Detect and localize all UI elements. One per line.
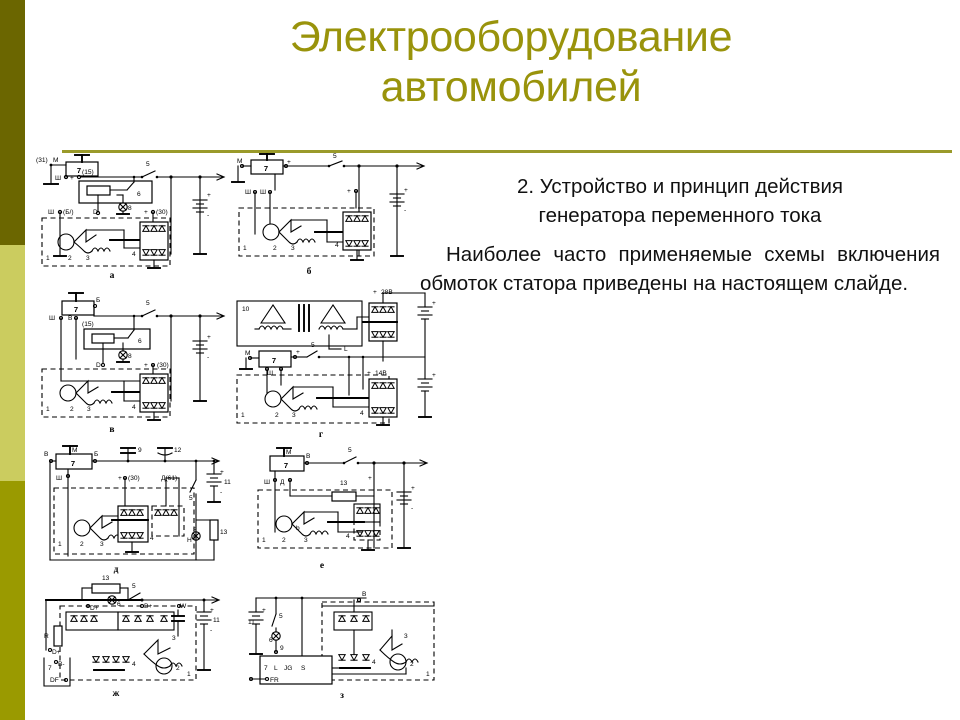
svg-text:L: L — [274, 665, 278, 672]
svg-text:М: М — [237, 158, 243, 165]
svg-text:(30): (30) — [156, 209, 168, 216]
svg-text:7: 7 — [272, 356, 276, 365]
svg-text:Д: Д — [280, 479, 285, 486]
svg-text:-: - — [210, 627, 212, 634]
svg-text:+: + — [70, 175, 74, 182]
svg-text:+: + — [432, 372, 436, 379]
svg-text:+: + — [220, 469, 224, 476]
svg-text:L: L — [344, 346, 348, 353]
slide-canvas: Электрооборудование автомобилей 2. Устро… — [0, 0, 960, 720]
svg-text:3: 3 — [87, 406, 91, 413]
svg-text:Н: Н — [187, 537, 192, 544]
svg-text:JG: JG — [284, 665, 292, 672]
sidebar-band-dark-olive — [0, 0, 25, 245]
svg-text:B-: B- — [58, 661, 65, 668]
svg-text:13: 13 — [220, 529, 228, 536]
svg-text:11: 11 — [213, 617, 220, 624]
decorative-sidebar — [0, 0, 25, 720]
slide-title-line-2: автомобилей — [62, 62, 960, 112]
svg-text:Б: Б — [96, 297, 100, 304]
svg-text:М: М — [286, 449, 292, 456]
svg-text:+: + — [404, 187, 408, 194]
svg-text:+: + — [296, 349, 300, 356]
svg-text:-: - — [220, 489, 222, 496]
svg-text:(15): (15) — [82, 169, 94, 176]
svg-text:4: 4 — [335, 242, 339, 249]
svg-text:3: 3 — [100, 541, 104, 548]
svg-text:3: 3 — [172, 635, 176, 642]
svg-text:2: 2 — [282, 537, 286, 544]
svg-text:7: 7 — [264, 665, 268, 672]
svg-text:FR: FR — [270, 677, 279, 684]
diagram-e: 7 М В 5 + - — [258, 447, 427, 571]
svg-text:B: B — [362, 591, 367, 598]
diagram-zh: 13 6 5 B+ W — [44, 575, 220, 699]
svg-text:(30): (30) — [157, 362, 169, 369]
svg-text:+: + — [207, 192, 211, 199]
svg-text:+: + — [262, 607, 266, 614]
svg-text:4: 4 — [132, 404, 136, 411]
svg-text:5: 5 — [132, 583, 136, 590]
svg-text:5: 5 — [189, 495, 193, 502]
svg-text:4: 4 — [346, 533, 350, 540]
svg-text:+: + — [210, 607, 214, 614]
svg-text:В: В — [306, 453, 311, 460]
diagram-g: 10 — [237, 289, 436, 440]
svg-text:М: М — [53, 157, 59, 164]
svg-text:10: 10 — [242, 306, 250, 313]
diagram-caption-g: г — [319, 430, 324, 440]
svg-text:М: М — [72, 447, 78, 454]
svg-text:Ш: Ш — [55, 175, 61, 182]
svg-text:1: 1 — [426, 671, 430, 678]
svg-text:5: 5 — [333, 153, 337, 160]
svg-text:2: 2 — [80, 541, 84, 548]
svg-text:Ш: Ш — [49, 315, 55, 322]
content-heading-line-1: 2. Устройство и принцип действия — [420, 172, 940, 201]
content-heading-line-2: генератора переменного тока — [420, 201, 940, 230]
svg-text:S: S — [301, 665, 306, 672]
svg-text:12: 12 — [174, 447, 182, 454]
content-text-block: 2. Устройство и принцип действия генерат… — [420, 172, 940, 298]
svg-text:8: 8 — [128, 205, 132, 212]
svg-text:(15): (15) — [82, 321, 94, 328]
svg-text:+: + — [368, 475, 372, 482]
svg-text:3: 3 — [291, 245, 295, 252]
slide-title-line-1: Электрооборудование — [62, 12, 960, 62]
svg-text:9: 9 — [280, 645, 284, 652]
svg-text:2: 2 — [176, 665, 180, 672]
svg-text:1: 1 — [187, 671, 191, 678]
svg-text:Ш: Ш — [56, 475, 62, 482]
slide-title: Электрооборудование автомобилей — [62, 12, 960, 112]
svg-text:4: 4 — [132, 251, 136, 258]
diagram-v: 7 Б Ш В (15) 5 — [42, 293, 224, 435]
sidebar-band-olive-gold — [0, 481, 25, 720]
svg-text:+: + — [367, 370, 371, 377]
svg-text:1: 1 — [243, 245, 247, 252]
svg-text:13: 13 — [340, 480, 348, 487]
svg-text:Ш: Ш — [48, 209, 54, 216]
svg-text:3: 3 — [292, 412, 296, 419]
svg-text:4: 4 — [372, 659, 376, 666]
diagram-caption-v: в — [109, 425, 114, 435]
circuit-diagrams-figure: .w{stroke:#000;stroke-width:1.1;fill:non… — [24, 152, 444, 718]
svg-text:+: + — [373, 289, 377, 296]
svg-text:2: 2 — [410, 661, 414, 668]
diagram-caption-a: а — [110, 271, 115, 281]
svg-text:(31): (31) — [36, 157, 48, 164]
svg-text:6: 6 — [138, 338, 142, 345]
svg-text:7: 7 — [74, 305, 78, 314]
svg-text:-: - — [207, 354, 209, 361]
svg-text:D+: D+ — [90, 605, 99, 612]
svg-text:(Б/): (Б/) — [63, 209, 74, 216]
svg-text:Ш: Ш — [267, 370, 273, 377]
svg-text:+: + — [411, 485, 415, 492]
svg-text:6: 6 — [269, 637, 273, 644]
svg-text:М: М — [245, 350, 251, 357]
svg-text:D: D — [96, 362, 101, 369]
svg-text:7: 7 — [77, 166, 81, 175]
svg-text:В: В — [44, 451, 49, 458]
svg-text:-: - — [207, 212, 209, 219]
diagram-caption-zh: ж — [113, 689, 120, 699]
svg-text:4: 4 — [360, 410, 364, 417]
svg-text:2: 2 — [275, 412, 279, 419]
svg-text:2: 2 — [273, 245, 277, 252]
svg-text:Ш: Ш — [264, 479, 270, 486]
svg-text:1: 1 — [46, 406, 50, 413]
svg-text:-: - — [411, 505, 413, 512]
svg-text:5: 5 — [146, 161, 150, 168]
svg-text:3: 3 — [304, 537, 308, 544]
diagram-z: + 11 5 6 9 B — [248, 591, 434, 701]
svg-text:2: 2 — [68, 255, 72, 262]
svg-text:5: 5 — [348, 447, 352, 454]
svg-text:3: 3 — [404, 633, 408, 640]
svg-text:7: 7 — [284, 461, 288, 470]
svg-text:-: - — [404, 207, 406, 214]
svg-text:Ш: Ш — [260, 189, 266, 196]
svg-text:DF: DF — [50, 677, 59, 684]
svg-text:В: В — [68, 315, 73, 322]
svg-text:11: 11 — [224, 479, 231, 486]
svg-text:7: 7 — [48, 665, 52, 672]
diagram-caption-z: з — [340, 691, 344, 701]
svg-text:Б: Б — [94, 451, 98, 458]
svg-text:1: 1 — [262, 537, 266, 544]
sidebar-band-light-yellow — [0, 245, 25, 481]
svg-text:9: 9 — [138, 447, 142, 454]
diagram-a: 7 (31) М Ш + (15) — [36, 155, 224, 281]
svg-text:6: 6 — [117, 601, 121, 608]
svg-text:8: 8 — [128, 353, 132, 360]
svg-text:14В: 14В — [375, 370, 387, 377]
svg-text:4: 4 — [132, 661, 136, 668]
svg-text:b: b — [296, 525, 300, 532]
svg-text:7: 7 — [71, 459, 75, 468]
svg-text:13: 13 — [102, 575, 110, 582]
svg-text:+: + — [347, 188, 351, 195]
diagram-caption-b: б — [307, 266, 312, 277]
diagram-caption-e: е — [320, 561, 324, 571]
svg-text:+: + — [118, 475, 122, 482]
svg-text:5: 5 — [279, 613, 283, 620]
svg-text:6: 6 — [137, 191, 141, 198]
content-paragraph: Наиболее часто применяемые схемы включен… — [420, 240, 940, 298]
svg-text:5: 5 — [146, 300, 150, 307]
svg-text:3: 3 — [86, 255, 90, 262]
svg-text:+: + — [432, 300, 436, 307]
svg-text:7: 7 — [264, 164, 268, 173]
svg-text:D+: D+ — [52, 649, 61, 656]
circuit-diagrams-svg: .w{stroke:#000;stroke-width:1.1;fill:non… — [24, 152, 444, 718]
svg-text:+: + — [144, 362, 148, 369]
diagram-b: 7 М + 5 — [232, 153, 424, 277]
svg-text:+: + — [144, 209, 148, 216]
diagram-d: 7 М В Б Ш — [44, 446, 231, 575]
svg-text:1: 1 — [241, 412, 245, 419]
svg-text:5: 5 — [311, 342, 315, 349]
svg-text:1: 1 — [58, 541, 62, 548]
svg-text:+: + — [207, 334, 211, 341]
diagram-caption-d: д — [114, 565, 119, 575]
svg-text:Ш: Ш — [245, 189, 251, 196]
svg-text:1: 1 — [46, 255, 50, 262]
svg-text:(30): (30) — [128, 475, 140, 482]
svg-text:2: 2 — [70, 406, 74, 413]
svg-text:11: 11 — [248, 619, 255, 626]
